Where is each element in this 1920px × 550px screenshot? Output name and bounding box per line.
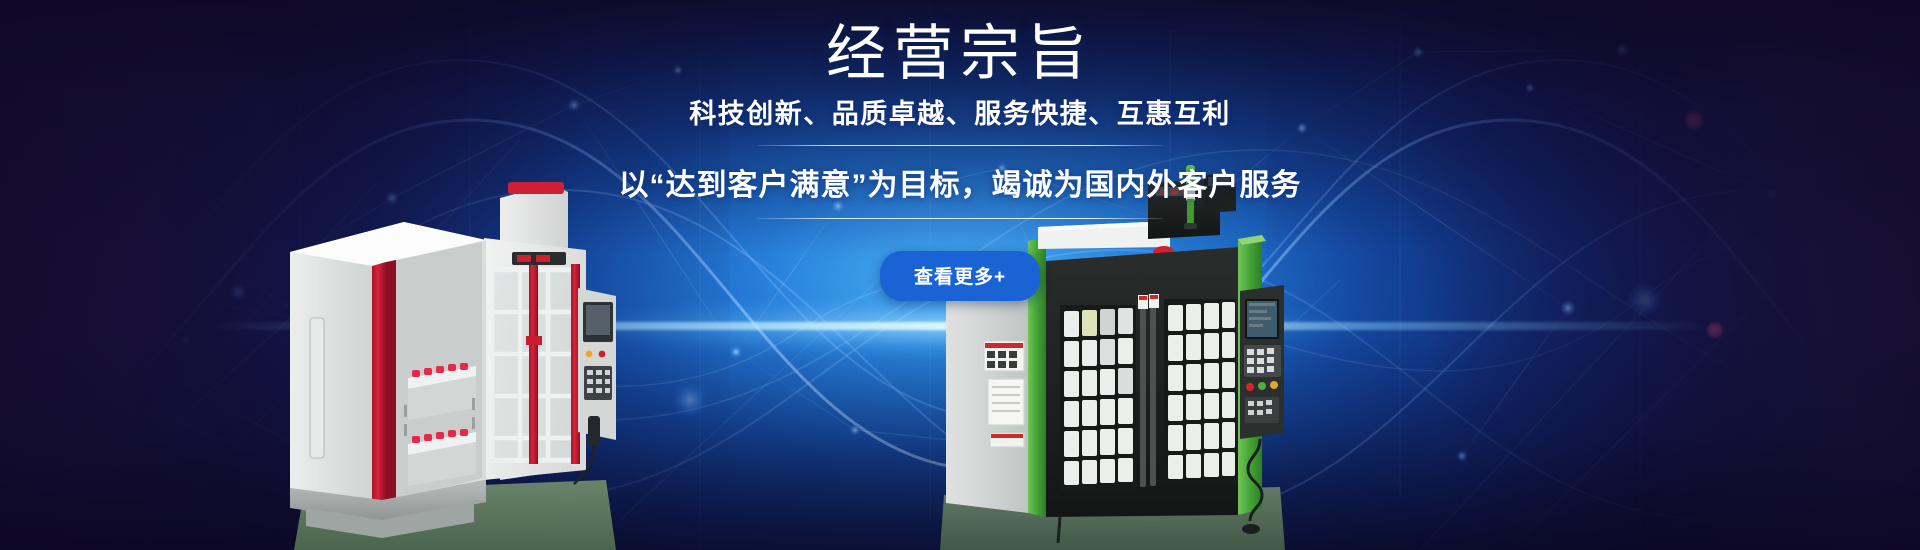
hero-subtitle: 科技创新、品质卓越、服务快捷、互惠互利 — [580, 92, 1340, 131]
hero-text-block: 经营宗旨 科技创新、品质卓越、服务快捷、互惠互利 以“达到客户满意”为目标，竭诚… — [580, 22, 1340, 301]
page-title: 经营宗旨 — [580, 22, 1340, 86]
hero-banner: 经营宗旨 科技创新、品质卓越、服务快捷、互惠互利 以“达到客户满意”为目标，竭诚… — [0, 0, 1920, 550]
hero-tagline: 以“达到客户满意”为目标，竭诚为国内外客户服务 — [580, 160, 1340, 204]
cnc-machine-left-image — [286, 140, 624, 550]
view-more-button[interactable]: 查看更多+ — [880, 251, 1040, 301]
divider-top — [757, 145, 1163, 146]
divider-bottom — [757, 218, 1163, 219]
